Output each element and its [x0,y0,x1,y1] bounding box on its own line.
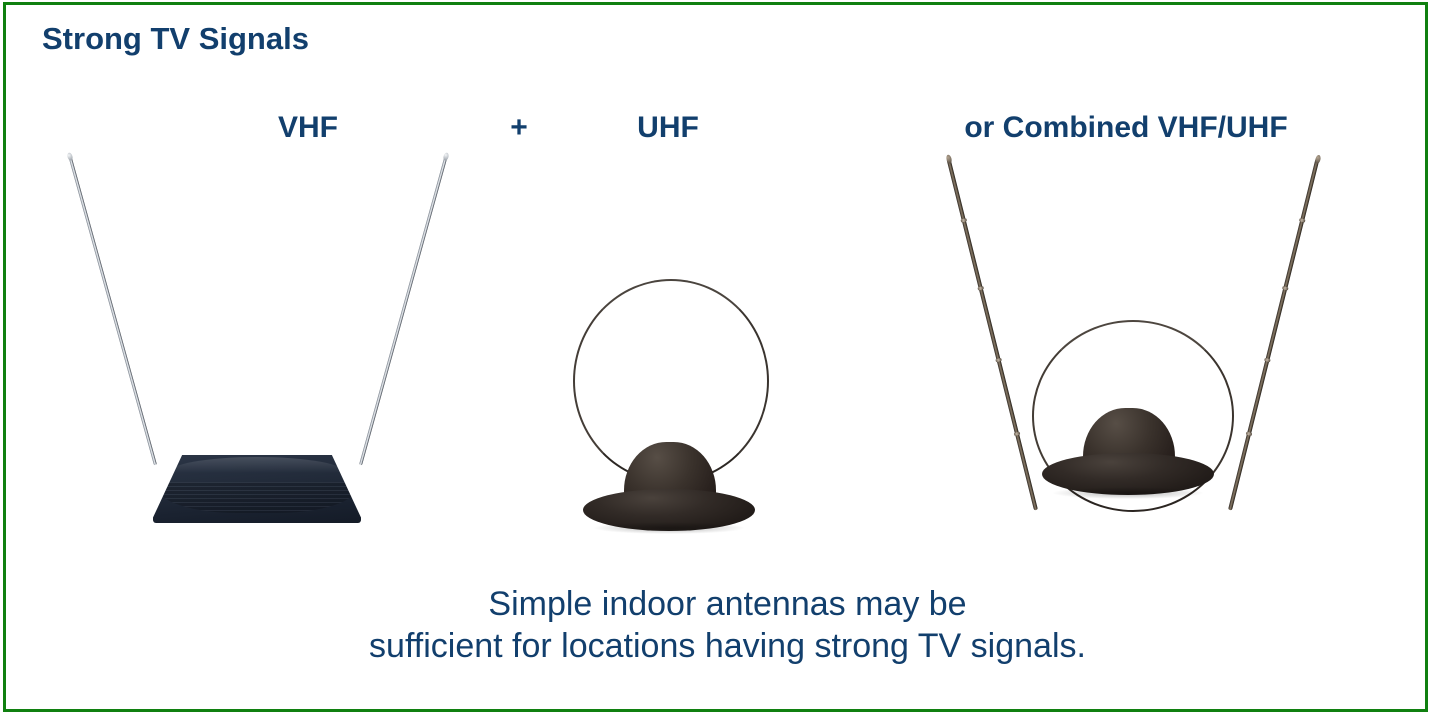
rod-joint [1014,432,1021,436]
combined-antenna-image [946,140,1316,540]
combined-rod-right-icon [1228,158,1319,510]
caption-line-2: sufficient for locations having strong T… [6,625,1443,667]
caption-line-1: Simple indoor antennas may be [6,583,1443,625]
vhf-antenna-image [96,140,436,540]
vhf-rod-left-icon [69,156,157,465]
vhf-antenna-base [153,455,361,523]
slide-canvas: Strong TV Signals VHF + UHF or Combined … [0,0,1443,718]
combined-rod-left-icon [946,158,1037,510]
rod-joint [995,358,1002,362]
uhf-antenna-image [561,275,791,535]
rod-joint [1246,432,1253,436]
page-title: Strong TV Signals [42,21,309,57]
uhf-antenna-shadow [594,522,744,534]
slide-frame: Strong TV Signals VHF + UHF or Combined … [3,2,1428,712]
rod-joint [1264,358,1271,362]
rod-tip-icon [1314,154,1321,164]
label-uhf: UHF [637,111,699,145]
rod-joint [1282,286,1289,290]
rod-joint [1299,218,1306,222]
rod-tip-icon [945,154,952,164]
rod-joint [961,218,968,222]
rod-joint [977,286,984,290]
rod-tip-icon [67,152,74,161]
vhf-rod-right-icon [359,156,447,465]
combined-antenna-shadow [1053,487,1203,499]
rod-tip-icon [443,152,450,161]
label-plus: + [510,111,528,145]
